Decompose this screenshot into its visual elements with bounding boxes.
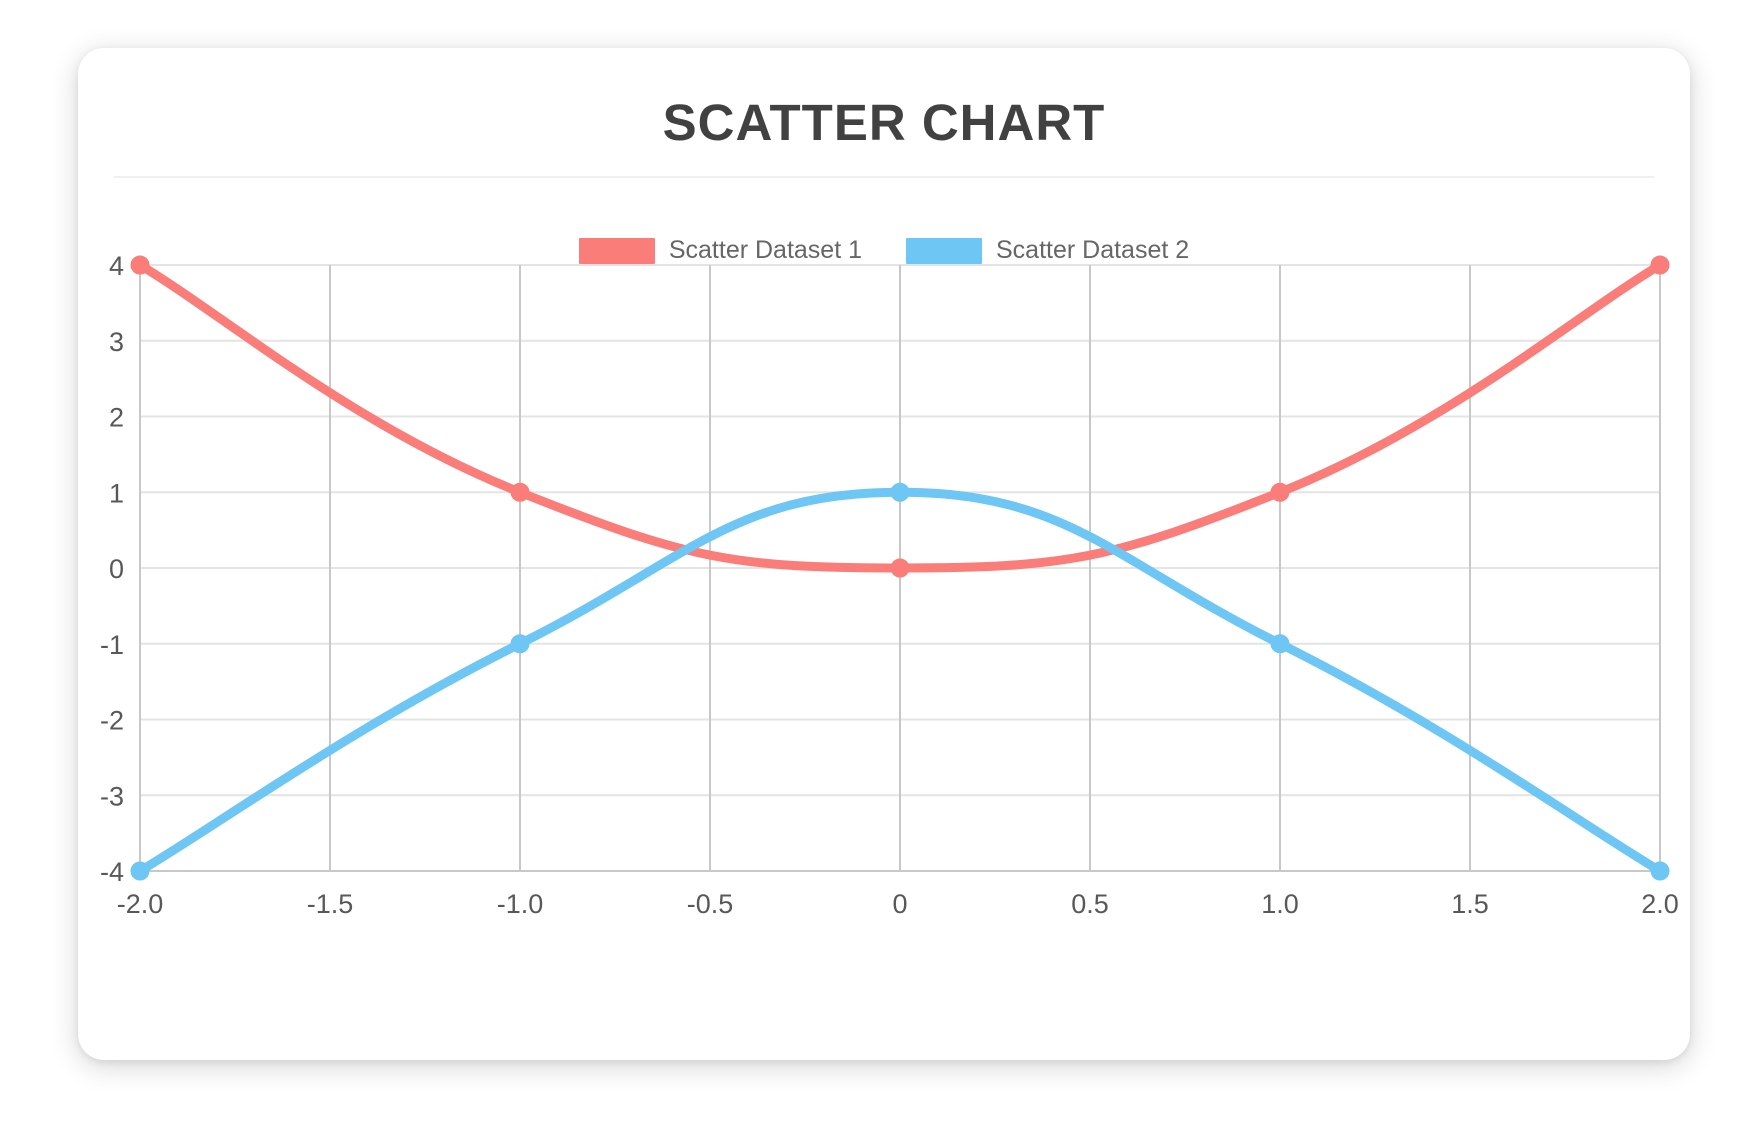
data-point-series-2[interactable] — [892, 484, 909, 501]
legend-item-dataset-2[interactable]: Scatter Dataset 2 — [906, 236, 1189, 265]
y-axis-tick-label: 0 — [109, 554, 124, 584]
title-divider — [114, 176, 1654, 178]
series-line-1 — [140, 265, 1660, 568]
x-axis-tick-label: -1.0 — [497, 889, 544, 919]
legend-label-dataset-1: Scatter Dataset 1 — [669, 236, 862, 265]
plot-area: 43210-1-2-3-4-2.0-1.5-1.0-0.500.51.01.52… — [78, 48, 1690, 1060]
y-axis-tick-label: -4 — [100, 857, 124, 887]
x-axis-tick-label: -2.0 — [117, 889, 164, 919]
y-axis-tick-label: 1 — [109, 478, 124, 508]
x-axis-tick-label: 1.0 — [1261, 889, 1299, 919]
legend-swatch-icon-dataset-2 — [906, 238, 982, 264]
legend-swatch-icon-dataset-1 — [579, 238, 655, 264]
chart-legend: Scatter Dataset 1 Scatter Dataset 2 — [78, 236, 1690, 265]
page-root: SCATTER CHART Scatter Dataset 1 Scatter … — [0, 0, 1763, 1144]
x-axis-tick-label: -0.5 — [687, 889, 734, 919]
legend-item-dataset-1[interactable]: Scatter Dataset 1 — [579, 236, 862, 265]
data-point-series-1[interactable] — [1272, 484, 1289, 501]
series-line-2 — [140, 492, 1660, 871]
legend-label-dataset-2: Scatter Dataset 2 — [996, 236, 1189, 265]
data-point-series-1[interactable] — [892, 560, 909, 577]
data-point-series-2[interactable] — [132, 863, 149, 880]
page-title: SCATTER CHART — [78, 93, 1690, 152]
y-axis-tick-label: -3 — [100, 781, 124, 811]
x-axis-tick-label: 0 — [892, 889, 907, 919]
x-axis-tick-label: -1.5 — [307, 889, 354, 919]
x-axis-tick-label: 0.5 — [1071, 889, 1109, 919]
data-point-series-2[interactable] — [1652, 863, 1669, 880]
y-axis-tick-label: 2 — [109, 403, 124, 433]
y-axis-tick-label: -2 — [100, 706, 124, 736]
chart-card: SCATTER CHART Scatter Dataset 1 Scatter … — [78, 48, 1690, 1060]
data-point-series-2[interactable] — [512, 635, 529, 652]
x-axis-tick-label: 2.0 — [1641, 889, 1679, 919]
data-point-series-1[interactable] — [512, 484, 529, 501]
y-axis-tick-label: 3 — [109, 327, 124, 357]
data-point-series-2[interactable] — [1272, 635, 1289, 652]
scatter-plot-svg: 43210-1-2-3-4-2.0-1.5-1.0-0.500.51.01.52… — [78, 48, 1690, 1060]
y-axis-tick-label: -1 — [100, 630, 124, 660]
x-axis-tick-label: 1.5 — [1451, 889, 1489, 919]
